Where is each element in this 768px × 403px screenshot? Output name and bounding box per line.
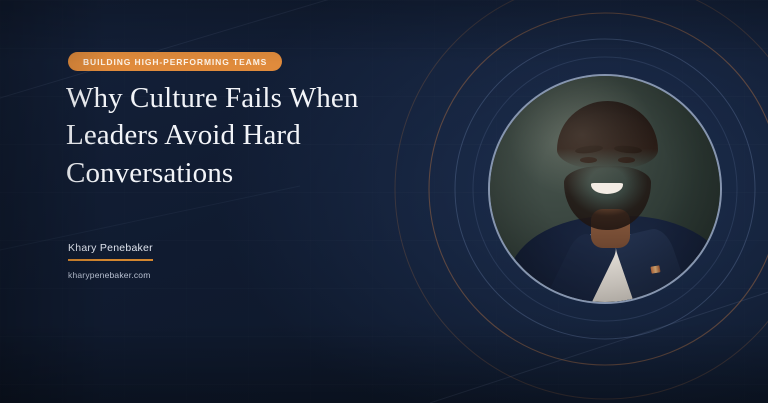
social-share-card: BUILDING HIGH-PERFORMING TEAMS Why Cultu… bbox=[0, 0, 768, 403]
byline: Khary Penebaker kharypenebaker.com bbox=[68, 238, 268, 280]
author-portrait bbox=[488, 74, 722, 304]
page-title: Why Culture Fails When Leaders Avoid Har… bbox=[66, 80, 396, 192]
text-column: BUILDING HIGH-PERFORMING TEAMS Why Cultu… bbox=[66, 0, 466, 403]
author-name: Khary Penebaker bbox=[68, 242, 153, 261]
category-badge: BUILDING HIGH-PERFORMING TEAMS bbox=[68, 52, 282, 71]
author-website: kharypenebaker.com bbox=[68, 270, 268, 280]
portrait-vignette bbox=[490, 76, 720, 302]
portrait-image bbox=[490, 76, 720, 302]
